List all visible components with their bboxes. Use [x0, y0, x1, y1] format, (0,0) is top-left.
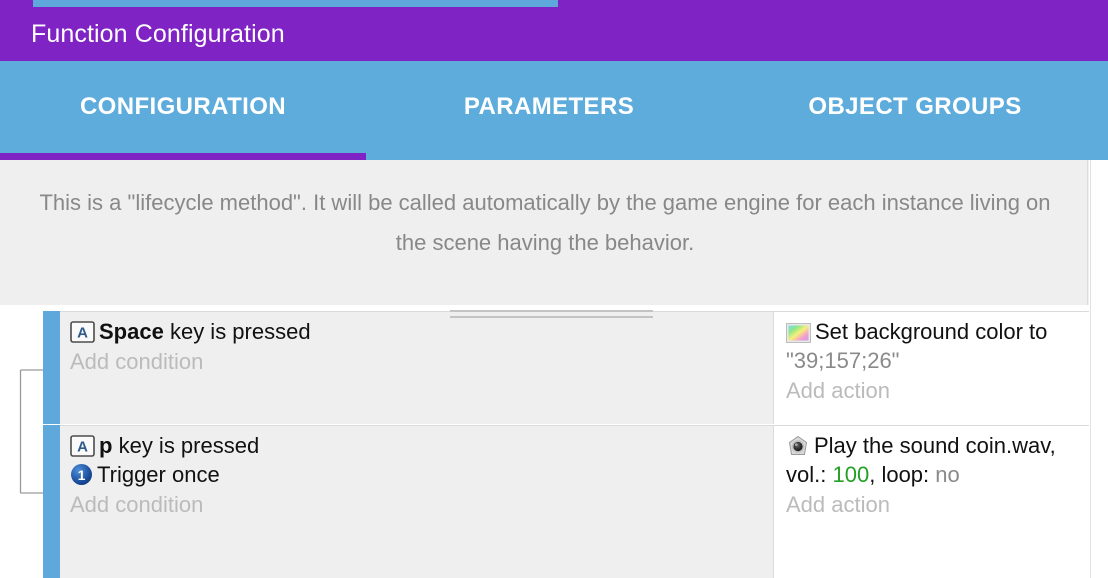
window-top-strip-highlight: [33, 0, 558, 7]
conditions-cell[interactable]: A p key is pressed: [60, 425, 773, 578]
tab-parameters[interactable]: PARAMETERS: [366, 93, 732, 121]
events-sheet: A Space key is pressed Add condition: [0, 305, 1089, 578]
action-comma: ,: [1050, 433, 1056, 458]
condition-key-name: p: [99, 433, 112, 458]
condition-text: key is pressed: [119, 433, 260, 458]
lifecycle-description-text: This is a "lifecycle method". It will be…: [30, 183, 1060, 263]
tab-active-indicator: [0, 153, 366, 160]
condition-text: key is pressed: [170, 319, 311, 344]
keyboard-key-icon: A: [70, 435, 95, 457]
event-row-handle[interactable]: [43, 425, 60, 578]
column-resize-handle[interactable]: [450, 310, 653, 320]
conditions-cell[interactable]: A Space key is pressed Add condition: [60, 311, 773, 424]
action-vol-label: vol.:: [786, 462, 826, 487]
color-palette-icon: [786, 323, 811, 343]
condition-item[interactable]: 1 Trigger once: [70, 460, 773, 489]
svg-text:A: A: [77, 439, 88, 456]
action-vol-value: 100: [832, 462, 869, 487]
tab-configuration[interactable]: CONFIGURATION: [0, 93, 366, 121]
svg-text:A: A: [77, 325, 88, 342]
event-row[interactable]: A Space key is pressed Add condition: [0, 311, 1089, 424]
function-configuration-window: Function Configuration CONFIGURATION PAR…: [0, 0, 1108, 578]
event-row-handle[interactable]: [43, 311, 60, 424]
action-loop-label: loop:: [881, 462, 929, 487]
action-item[interactable]: Set background color to "39;157;26": [786, 317, 1089, 375]
trigger-once-label: Trigger once: [97, 462, 220, 487]
add-condition-button[interactable]: Add condition: [70, 489, 773, 520]
action-item[interactable]: Play the sound coin.wav, vol.: 100, loop…: [786, 431, 1089, 489]
description-panel: This is a "lifecycle method". It will be…: [0, 160, 1108, 305]
right-gutter-divider: [1090, 160, 1091, 578]
keyboard-key-icon: A: [70, 321, 95, 343]
add-condition-button[interactable]: Add condition: [70, 346, 773, 377]
action-text-a: Set background: [815, 319, 969, 344]
speaker-icon: [786, 435, 810, 457]
right-gutter: [1089, 160, 1108, 578]
action-loop-value: no: [935, 462, 959, 487]
actions-cell[interactable]: Set background color to "39;157;26" Add …: [773, 311, 1089, 424]
add-action-button[interactable]: Add action: [786, 375, 1089, 406]
action-text-a: Play the sound: [814, 433, 960, 458]
action-comma-2: ,: [869, 462, 875, 487]
svg-text:1: 1: [78, 467, 86, 483]
event-row[interactable]: A p key is pressed: [0, 425, 1089, 578]
action-sound-file: coin.wav: [966, 433, 1050, 458]
actions-cell[interactable]: Play the sound coin.wav, vol.: 100, loop…: [773, 425, 1089, 578]
add-action-button[interactable]: Add action: [786, 489, 1089, 520]
trigger-once-icon: 1: [70, 463, 93, 486]
action-color-value: "39;157;26": [786, 348, 900, 373]
page-title: Function Configuration: [0, 20, 285, 49]
tab-bar: CONFIGURATION PARAMETERS OBJECT GROUPS: [0, 61, 1108, 160]
condition-key-name: Space: [99, 319, 164, 344]
condition-item[interactable]: A Space key is pressed: [70, 317, 773, 346]
condition-item[interactable]: A p key is pressed: [70, 431, 773, 460]
tab-object-groups[interactable]: OBJECT GROUPS: [732, 93, 1098, 121]
action-text-b: color to: [975, 319, 1047, 344]
title-bar: Function Configuration: [0, 7, 1108, 61]
